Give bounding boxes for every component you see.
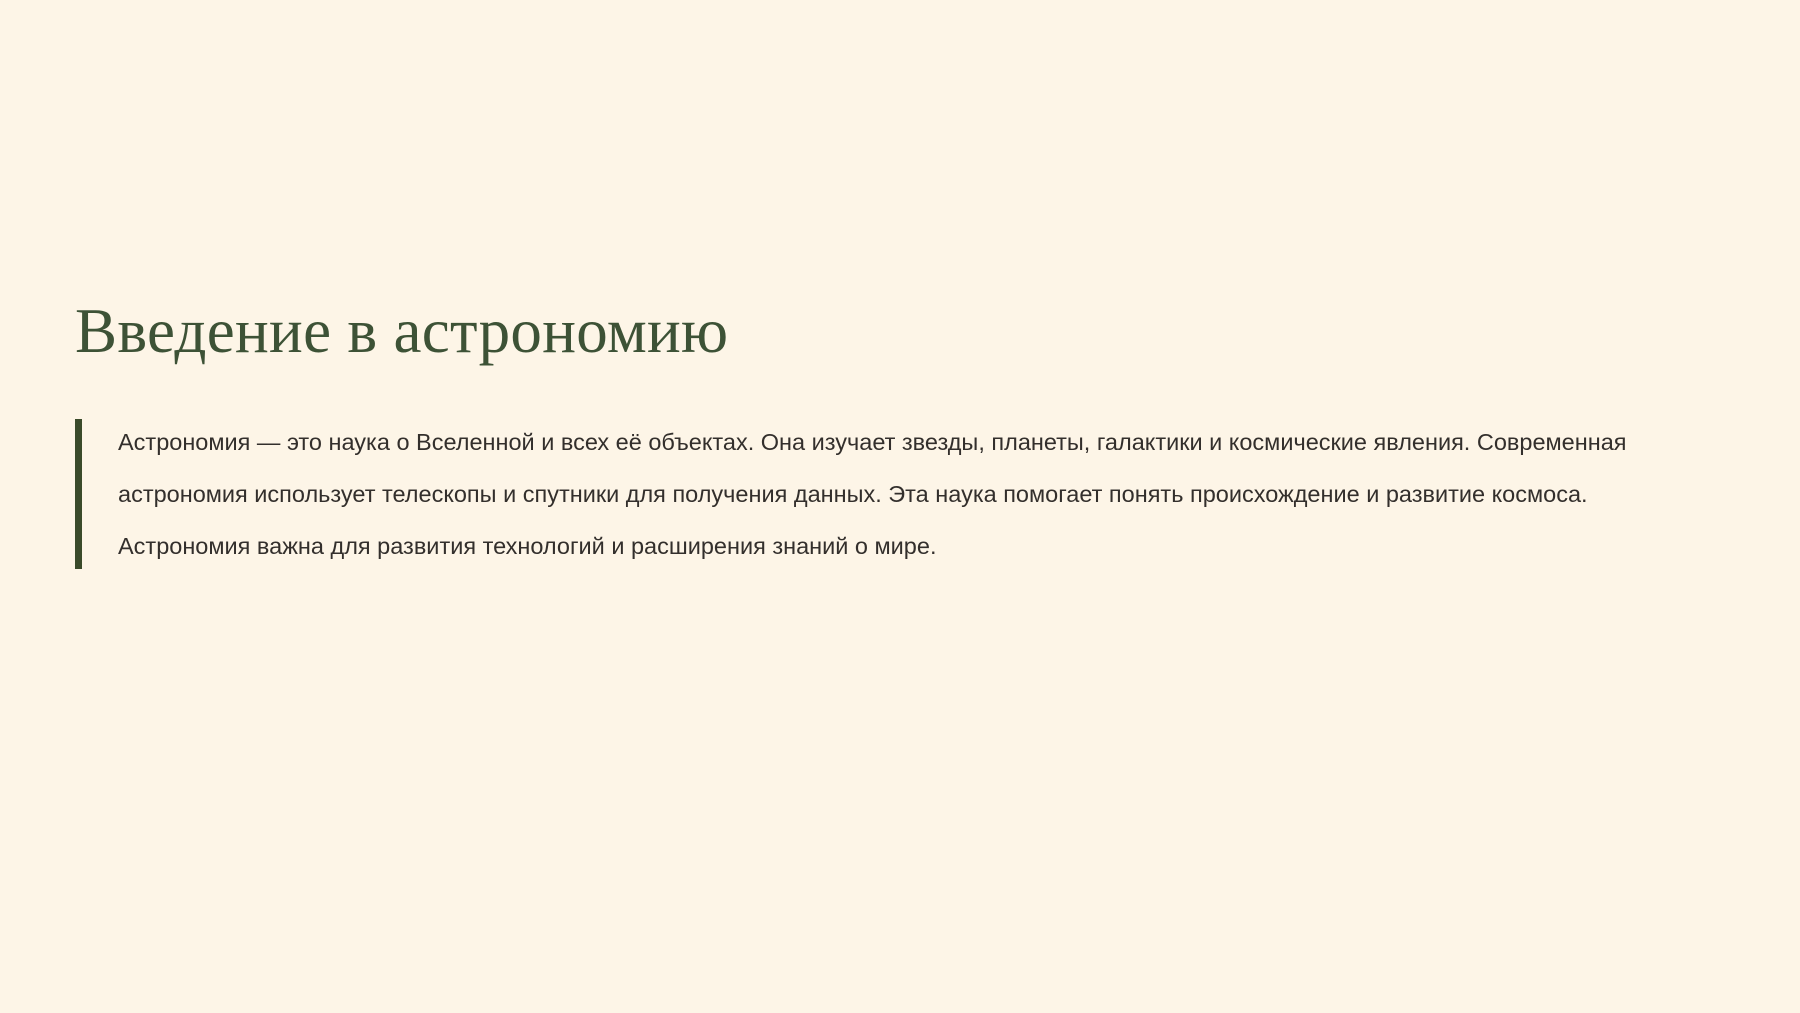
page-title: Введение в астрономию (75, 296, 1735, 368)
article-container: Введение в астрономию Астрономия — это н… (75, 296, 1735, 572)
article-body-paragraph: Астрономия — это наука о Вселенной и все… (118, 416, 1708, 572)
accent-bar (75, 419, 82, 569)
page-canvas: Введение в астрономию Астрономия — это н… (0, 0, 1800, 1013)
callout-block: Астрономия — это наука о Вселенной и все… (75, 416, 1735, 572)
